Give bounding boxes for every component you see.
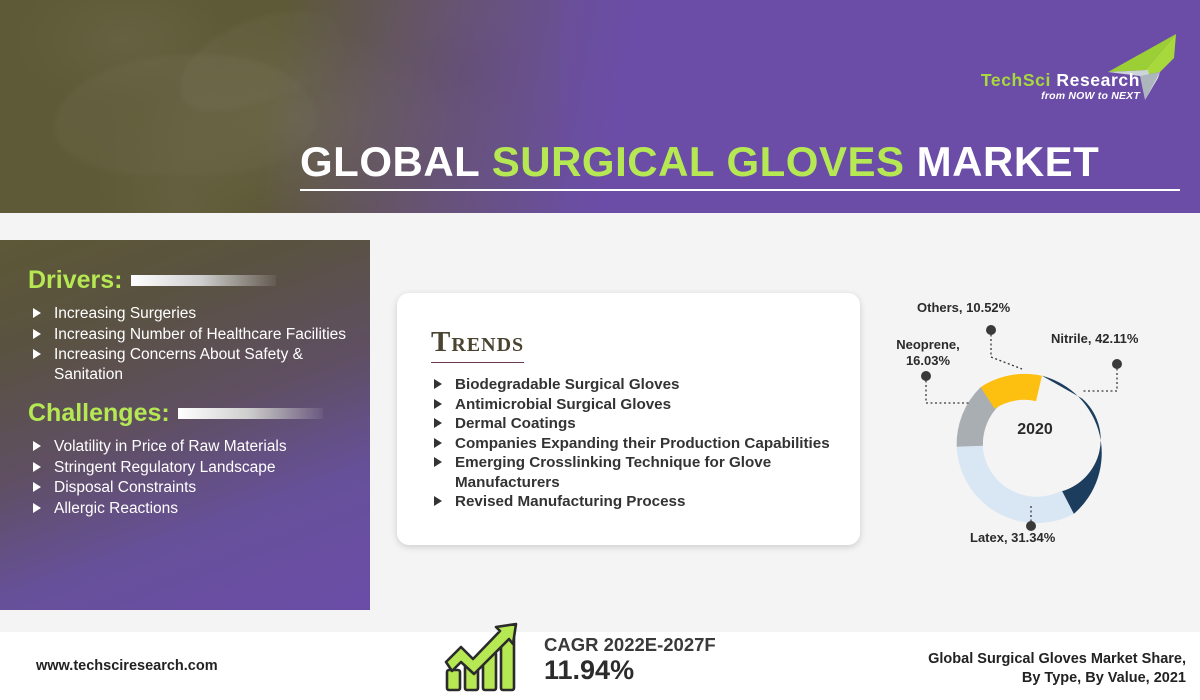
trend-text: Biodegradable Surgical Gloves (455, 376, 680, 393)
bullet-triangle-icon (434, 438, 442, 448)
footer-bar: www.techsciresearch.com CAGR 2022E-2027F… (0, 632, 1200, 700)
bullet-triangle-icon (33, 503, 41, 513)
logo-tagline: from NOW to NEXT (1041, 90, 1140, 102)
leader-dot-others (986, 325, 996, 335)
logo-wordmark: TechSci Research (981, 70, 1140, 91)
trend-text: Emerging Crosslinking Technique for Glov… (455, 454, 771, 491)
challenges-heading: Challenges: (28, 399, 348, 428)
segment-latex (957, 445, 1074, 523)
page-title: GLOBAL SURGICAL GLOVES MARKET (300, 138, 1180, 186)
sidebar-spacer (28, 385, 348, 399)
growth-chart-icon (440, 618, 532, 696)
list-item: Increasing Concerns About Safety & Sanit… (28, 345, 348, 384)
challenge-text: Allergic Reactions (54, 500, 178, 517)
leader-dot-nitrile (1112, 359, 1122, 369)
donut-label-others: Others, 10.52% (917, 300, 1010, 316)
cagr-label: CAGR 2022E-2027F (544, 634, 716, 656)
drivers-heading-bar (131, 275, 276, 286)
cagr-block: CAGR 2022E-2027F 11.94% (440, 610, 780, 700)
title-part-global: GLOBAL (300, 138, 492, 185)
drivers-heading: Drivers: (28, 266, 348, 295)
donut-label-neoprene: Neoprene, 16.03% (878, 337, 978, 369)
bullet-triangle-icon (33, 441, 41, 451)
cagr-value: 11.94% (544, 655, 634, 686)
market-share-donut-chart: Others, 10.52% Nitrile, 42.11% Neoprene,… (870, 290, 1200, 570)
challenge-text: Stringent Regulatory Landscape (54, 459, 275, 476)
chart-caption: Global Surgical Gloves Market Share, By … (786, 650, 1186, 688)
bullet-triangle-icon (434, 496, 442, 506)
challenge-text: Disposal Constraints (54, 479, 196, 496)
driver-text: Increasing Surgeries (54, 305, 196, 322)
bullet-triangle-icon (33, 482, 41, 492)
list-item: Disposal Constraints (28, 478, 348, 498)
trend-text: Revised Manufacturing Process (455, 493, 685, 510)
bullet-triangle-icon (434, 418, 442, 428)
trend-text: Dermal Coatings (455, 415, 576, 432)
header-banner: TechSci Research from NOW to NEXT GLOBAL… (0, 0, 1200, 213)
title-part-accent: SURGICAL GLOVES (492, 138, 905, 185)
driver-text: Increasing Concerns About Safety & Sanit… (54, 346, 303, 383)
driver-text: Increasing Number of Healthcare Faciliti… (54, 326, 346, 343)
chart-caption-line1: Global Surgical Gloves Market Share, (928, 651, 1186, 667)
bullet-triangle-icon (434, 399, 442, 409)
list-item: Antimicrobial Surgical Gloves (431, 395, 838, 415)
donut-center-year: 2020 (979, 421, 1091, 439)
leader-nitrile (1083, 364, 1117, 391)
website-url[interactable]: www.techsciresearch.com (36, 658, 218, 674)
logo-tech-text: TechSci (981, 70, 1051, 90)
drivers-challenges-panel: Drivers: Increasing Surgeries Increasing… (0, 240, 370, 610)
leader-neoprene (926, 376, 969, 403)
bullet-triangle-icon (33, 308, 41, 318)
bullet-triangle-icon (434, 379, 442, 389)
list-item: Volatility in Price of Raw Materials (28, 437, 348, 457)
list-item: Biodegradable Surgical Gloves (431, 375, 838, 395)
trend-text: Antimicrobial Surgical Gloves (455, 396, 671, 413)
trends-card: Trends Biodegradable Surgical Gloves Ant… (397, 293, 860, 545)
leader-others (991, 330, 1022, 369)
drivers-list: Increasing Surgeries Increasing Number o… (28, 304, 348, 384)
title-part-market: MARKET (905, 138, 1100, 185)
trends-list: Biodegradable Surgical Gloves Antimicrob… (431, 375, 838, 512)
bullet-triangle-icon (33, 329, 41, 339)
list-item: Revised Manufacturing Process (431, 492, 838, 512)
challenges-heading-text: Challenges: (28, 399, 170, 428)
drivers-heading-text: Drivers: (28, 266, 123, 295)
challenges-list: Volatility in Price of Raw Materials Str… (28, 437, 348, 518)
trend-text: Companies Expanding their Production Cap… (455, 435, 830, 452)
challenge-text: Volatility in Price of Raw Materials (54, 438, 287, 455)
list-item: Emerging Crosslinking Technique for Glov… (431, 453, 838, 492)
bullet-triangle-icon (33, 349, 41, 359)
donut-label-nitrile: Nitrile, 42.11% (1051, 331, 1138, 347)
leader-dot-neoprene (921, 371, 931, 381)
title-underline (300, 189, 1180, 191)
challenges-heading-bar (178, 408, 323, 419)
list-item: Increasing Number of Healthcare Faciliti… (28, 325, 348, 345)
list-item: Increasing Surgeries (28, 304, 348, 324)
chart-caption-line2: By Type, By Value, 2021 (1022, 670, 1186, 686)
list-item: Dermal Coatings (431, 414, 838, 434)
donut-label-neoprene-line1: Neoprene, (896, 337, 960, 352)
segment-nitrile (1042, 376, 1102, 514)
donut-segments (957, 374, 1102, 523)
trends-title: Trends (431, 326, 524, 363)
donut-label-neoprene-line2: 16.03% (906, 353, 950, 368)
logo-research-text: Research (1051, 70, 1140, 90)
bullet-triangle-icon (434, 457, 442, 467)
techsci-logo[interactable]: TechSci Research from NOW to NEXT (958, 32, 1178, 104)
list-item: Stringent Regulatory Landscape (28, 458, 348, 478)
donut-label-latex: Latex, 31.34% (970, 530, 1055, 546)
list-item: Allergic Reactions (28, 499, 348, 519)
list-item: Companies Expanding their Production Cap… (431, 434, 838, 454)
bullet-triangle-icon (33, 462, 41, 472)
